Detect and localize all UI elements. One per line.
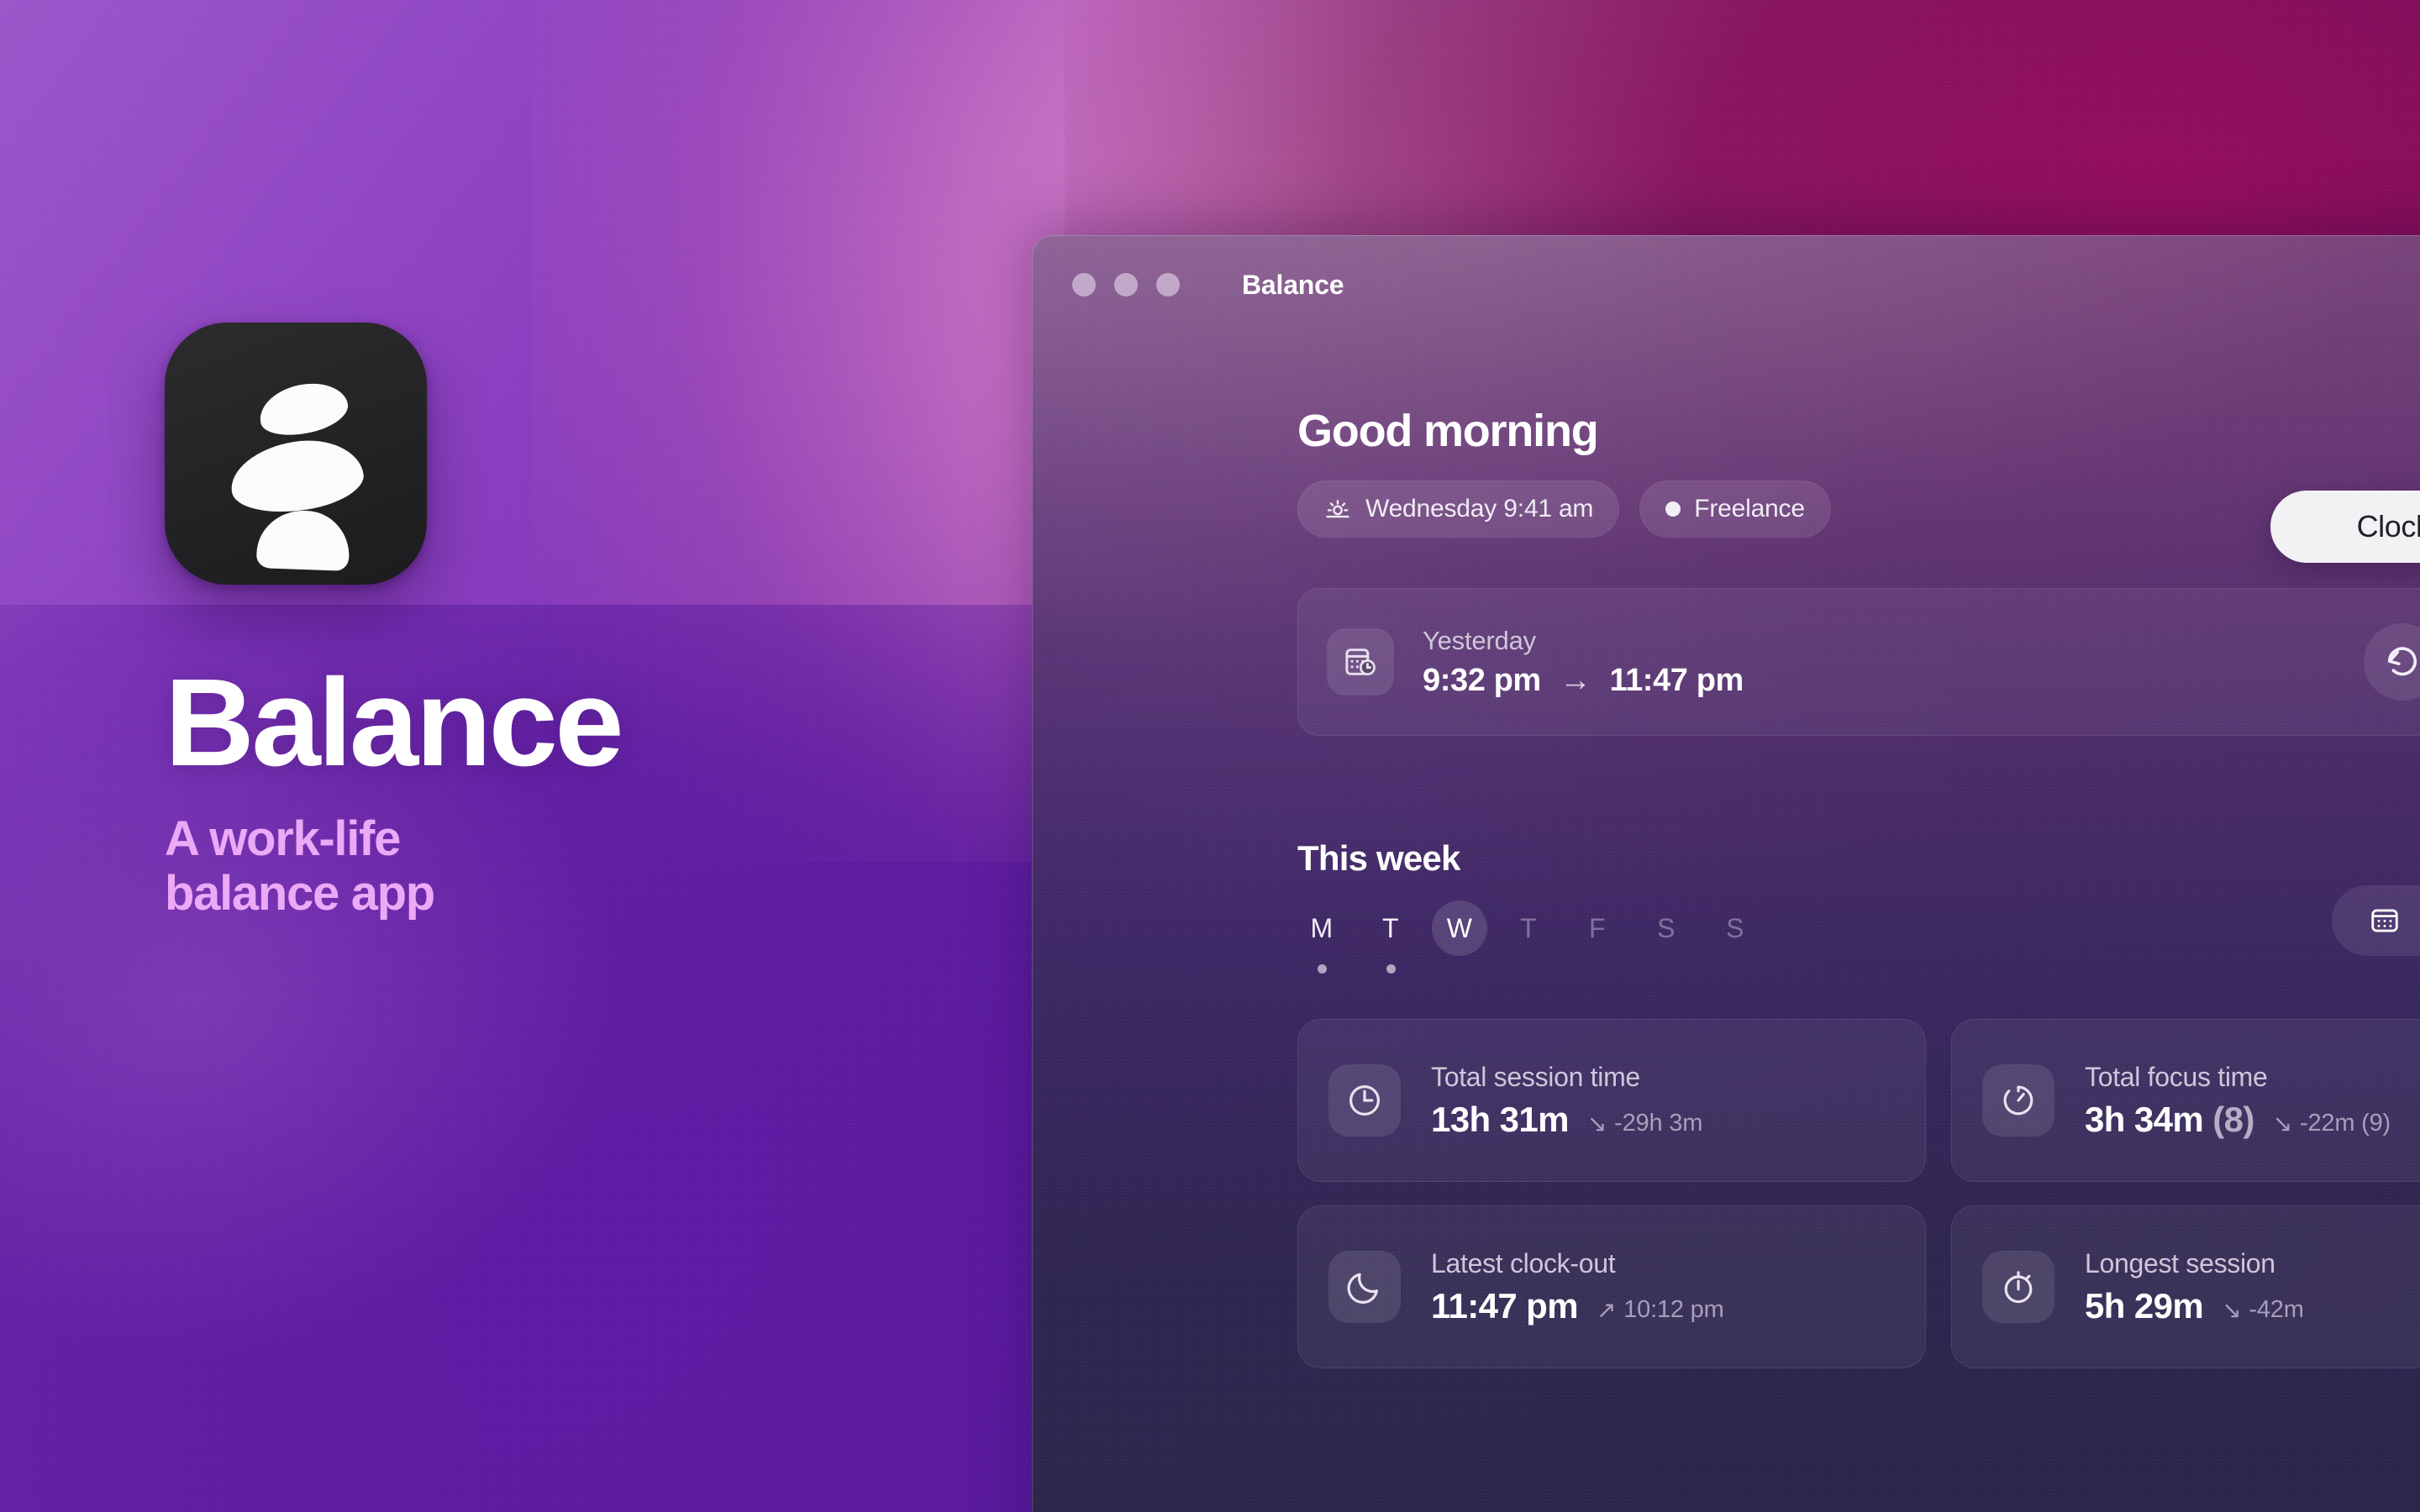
- stat-value-row: 13h 31m ↘ -29h 3m: [1431, 1100, 1702, 1140]
- hero-tagline: A work-life balance app: [165, 812, 686, 921]
- stat-text-block: Total focus time 3h 34m (8) ↘ -22m (9): [2085, 1062, 2391, 1140]
- stats-grid: Total session time 13h 31m ↘ -29h 3m: [1297, 1019, 2420, 1368]
- yesterday-label: Yesterday: [1423, 626, 1744, 656]
- stat-value-main: 3h 34m: [2085, 1100, 2203, 1139]
- clock-icon: [1328, 1064, 1401, 1137]
- yesterday-text-block: Yesterday 9:32 pm → 11:47 pm: [1423, 626, 1744, 699]
- stat-value: 3h 34m (8): [2085, 1100, 2254, 1140]
- stat-card-total-focus-time[interactable]: Total focus time 3h 34m (8) ↘ -22m (9): [1951, 1019, 2420, 1182]
- stat-delta-value: -29h 3m: [1614, 1110, 1702, 1137]
- this-week-header: This week: [1297, 838, 2420, 879]
- trend-arrow-icon: ↘: [2222, 1299, 2241, 1322]
- stone-middle-shape: [226, 432, 368, 521]
- weekday-tuesday[interactable]: T: [1356, 900, 1425, 974]
- window-titlebar: Balance: [1032, 235, 2420, 334]
- clock-in-button[interactable]: Clock in: [2270, 491, 2420, 563]
- meta-pill-row: Wednesday 9:41 am Freelance: [1297, 480, 2420, 538]
- yesterday-end-time: 11:47 pm: [1609, 663, 1743, 699]
- stat-label: Latest clock-out: [1431, 1248, 1724, 1279]
- stat-text-block: Total session time 13h 31m ↘ -29h 3m: [1431, 1062, 1702, 1140]
- moon-icon: [1328, 1251, 1401, 1323]
- hero-section: Balance A work-life balance app: [165, 323, 921, 921]
- arrow-right-icon: →: [1560, 663, 1591, 699]
- weekday-tuesday-dot: [1386, 964, 1396, 974]
- yesterday-start-time: 9:32 pm: [1423, 663, 1541, 699]
- weekday-sunday-letter: S: [1707, 900, 1763, 956]
- restore-arrow-icon: [2382, 642, 2420, 682]
- this-week-title: This week: [1297, 838, 1460, 879]
- weekday-wednesday[interactable]: W: [1425, 900, 1494, 974]
- this-week-section: This week M T W T: [1297, 838, 2420, 974]
- close-button[interactable]: [1072, 273, 1096, 297]
- datetime-pill[interactable]: Wednesday 9:41 am: [1297, 480, 1619, 538]
- stat-delta: ↗ 10:12 pm: [1597, 1296, 1724, 1324]
- yesterday-session-card[interactable]: Yesterday 9:32 pm → 11:47 pm: [1297, 588, 2420, 736]
- show-log-button[interactable]: Show log: [2332, 885, 2420, 956]
- weekday-friday[interactable]: F: [1563, 900, 1632, 974]
- stat-value-row: 5h 29m ↘ -42m: [2085, 1286, 2304, 1326]
- zoom-button[interactable]: [1156, 273, 1180, 297]
- greeting-heading: Good morning: [1297, 405, 2420, 457]
- stat-card-longest-session[interactable]: Longest session 5h 29m ↘ -42m: [1951, 1205, 2420, 1368]
- stat-card-latest-clock-out[interactable]: Latest clock-out 11:47 pm ↗ 10:12 pm: [1297, 1205, 1926, 1368]
- clock-in-label: Clock in: [2357, 509, 2420, 544]
- page-title: Balance: [165, 662, 921, 784]
- stat-label: Total focus time: [2085, 1062, 2391, 1093]
- calendar-clock-icon: [1327, 628, 1394, 696]
- stat-delta: ↘ -22m (9): [2273, 1110, 2391, 1137]
- stat-value: 13h 31m: [1431, 1100, 1569, 1140]
- weekday-saturday-letter: S: [1639, 900, 1694, 956]
- work-mode-pill[interactable]: Freelance: [1639, 480, 1831, 538]
- weekday-monday-letter: M: [1294, 900, 1349, 956]
- hero-tagline-line-1: A work-life: [165, 812, 686, 867]
- stat-value-row: 3h 34m (8) ↘ -22m (9): [2085, 1100, 2391, 1140]
- stone-bottom-shape: [256, 509, 350, 571]
- weekday-friday-letter: F: [1570, 900, 1625, 956]
- weekday-saturday[interactable]: S: [1632, 900, 1701, 974]
- hero-tagline-line-2: balance app: [165, 867, 686, 921]
- yesterday-time-range: 9:32 pm → 11:47 pm: [1423, 663, 1744, 699]
- trend-arrow-icon: ↘: [2273, 1112, 2292, 1136]
- weekday-thursday[interactable]: T: [1494, 900, 1563, 974]
- window-title: Balance: [1242, 270, 1344, 301]
- restore-session-button[interactable]: [2364, 623, 2420, 701]
- calendar-grid-icon: [2369, 905, 2401, 937]
- stat-value-row: 11:47 pm ↗ 10:12 pm: [1431, 1286, 1724, 1326]
- stat-delta-value: -42m: [2249, 1296, 2303, 1324]
- stat-label: Longest session: [2085, 1248, 2304, 1279]
- stat-delta-value: 10:12 pm: [1623, 1296, 1723, 1324]
- work-mode-pill-label: Freelance: [1694, 495, 1805, 523]
- stat-value-count: (8): [2212, 1100, 2254, 1139]
- weekday-wednesday-letter: W: [1432, 900, 1487, 956]
- focus-timer-icon: [1982, 1064, 2054, 1137]
- stat-value: 11:47 pm: [1431, 1286, 1578, 1326]
- balance-stones-icon: [165, 323, 427, 585]
- sunrise-icon: [1323, 495, 1352, 523]
- weekday-tuesday-letter: T: [1363, 900, 1418, 956]
- minimize-button[interactable]: [1114, 273, 1138, 297]
- stat-card-total-session-time[interactable]: Total session time 13h 31m ↘ -29h 3m: [1297, 1019, 1926, 1182]
- trend-arrow-icon: ↗: [1597, 1299, 1616, 1322]
- weekday-selector: M T W T F: [1287, 900, 2420, 974]
- stat-text-block: Latest clock-out 11:47 pm ↗ 10:12 pm: [1431, 1248, 1724, 1326]
- stat-text-block: Longest session 5h 29m ↘ -42m: [2085, 1248, 2304, 1326]
- weekday-sunday[interactable]: S: [1701, 900, 1770, 974]
- traffic-lights: [1072, 273, 1180, 297]
- weekday-thursday-letter: T: [1501, 900, 1556, 956]
- stat-value: 5h 29m: [2085, 1286, 2203, 1326]
- stopwatch-icon: [1982, 1251, 2054, 1323]
- status-dot-icon: [1665, 501, 1681, 517]
- stat-label: Total session time: [1431, 1062, 1702, 1093]
- weekday-monday[interactable]: M: [1287, 900, 1356, 974]
- stat-delta: ↘ -29h 3m: [1587, 1110, 1702, 1137]
- stat-delta-value: -22m (9): [2300, 1110, 2391, 1137]
- stone-top-shape: [255, 376, 352, 443]
- trend-arrow-icon: ↘: [1587, 1112, 1607, 1136]
- app-window: Balance Good morning: [1032, 235, 2420, 1512]
- window-content: Good morning Wednes: [1032, 334, 2420, 1512]
- greeting-block: Good morning Wednes: [1297, 405, 2420, 538]
- datetime-pill-label: Wednesday 9:41 am: [1365, 495, 1593, 523]
- stat-delta: ↘ -42m: [2222, 1296, 2304, 1324]
- weekday-monday-dot: [1318, 964, 1327, 974]
